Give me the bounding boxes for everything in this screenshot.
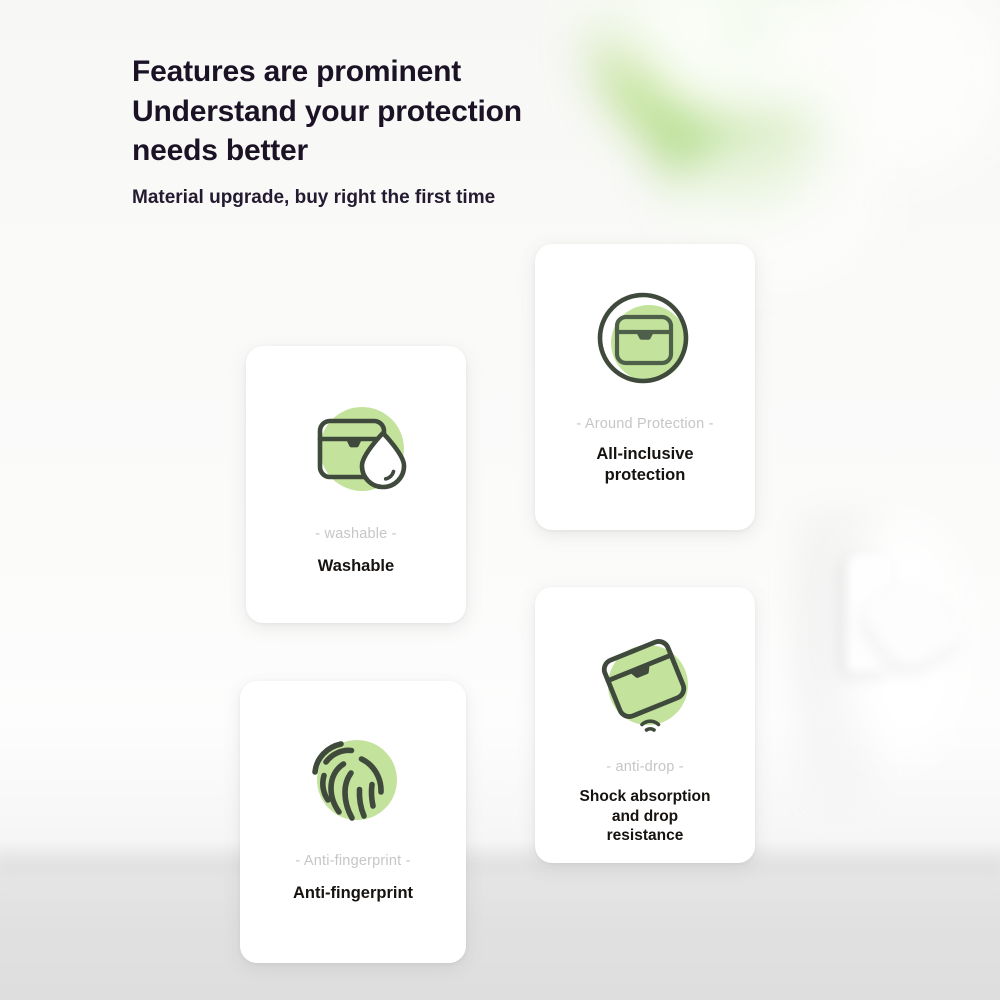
card-caption: Washable xyxy=(304,556,408,577)
feature-card-anti-fingerprint[interactable]: - Anti-fingerprint - Anti-fingerprint xyxy=(240,681,466,963)
card-caption-line-2: protection xyxy=(605,466,686,484)
page-title: Features are prominent Understand your p… xyxy=(132,52,692,171)
card-caption-line-1: All-inclusive xyxy=(596,445,693,463)
feature-card-all-inclusive-protection[interactable]: - Around Protection - All-inclusive prot… xyxy=(535,244,755,530)
card-caption: Shock absorption and drop resistance xyxy=(566,787,725,846)
product-feature-banner: Features are prominent Understand your p… xyxy=(0,0,1000,1000)
page-title-line-1: Features are prominent xyxy=(132,55,461,88)
background-surface-edge xyxy=(0,848,1000,878)
tilted-case-shock-waves-icon xyxy=(586,627,704,737)
page-subtitle: Material upgrade, buy right the first ti… xyxy=(132,187,692,209)
feature-card-washable[interactable]: - washable - Washable xyxy=(246,346,466,623)
card-tagline: - washable - xyxy=(315,526,396,542)
fingerprint-icon xyxy=(294,723,412,833)
card-caption-line-1: Shock absorption xyxy=(580,788,711,805)
headline-block: Features are prominent Understand your p… xyxy=(132,52,692,209)
page-title-line-2: Understand your protection xyxy=(132,95,522,128)
card-tagline: - Anti-fingerprint - xyxy=(295,853,410,869)
page-title-line-3: needs better xyxy=(132,134,308,167)
card-caption: Anti-fingerprint xyxy=(279,883,427,904)
card-caption-line-2: and drop xyxy=(612,808,678,825)
card-caption-line-3: resistance xyxy=(607,827,684,844)
washable-case-water-drop-icon xyxy=(297,394,415,504)
case-in-ring-all-around-protection-icon xyxy=(586,286,704,396)
card-tagline: - Around Protection - xyxy=(576,416,713,432)
card-tagline: - anti-drop - xyxy=(606,759,684,775)
card-caption: All-inclusive protection xyxy=(582,444,707,486)
feature-card-anti-drop[interactable]: - anti-drop - Shock absorption and drop … xyxy=(535,587,755,863)
